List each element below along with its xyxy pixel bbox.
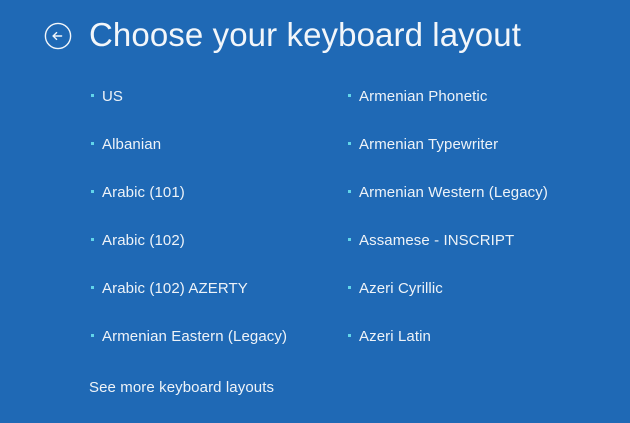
bullet-icon (91, 94, 94, 97)
list-item[interactable]: Assamese - INSCRIPT (348, 216, 630, 264)
keyboard-layout-screen: Choose your keyboard layout US Albanian … (0, 0, 630, 423)
header: Choose your keyboard layout (0, 0, 630, 72)
list-item-label: Arabic (101) (102, 184, 185, 201)
list-item-label: Azeri Cyrillic (359, 280, 443, 297)
list-item-label: Armenian Western (Legacy) (359, 184, 548, 201)
bullet-icon (91, 286, 94, 289)
back-arrow-circle-icon[interactable] (44, 22, 72, 50)
list-item[interactable]: Arabic (101) (91, 168, 341, 216)
see-more-keyboard-layouts-link[interactable]: See more keyboard layouts (89, 376, 274, 400)
bullet-icon (348, 238, 351, 241)
page-title: Choose your keyboard layout (89, 11, 521, 59)
bullet-icon (91, 334, 94, 337)
list-item-label: Armenian Typewriter (359, 136, 498, 153)
list-item[interactable]: US (91, 72, 341, 120)
bullet-icon (348, 286, 351, 289)
bullet-icon (348, 190, 351, 193)
list-item-label: Armenian Phonetic (359, 88, 487, 105)
bullet-icon (348, 142, 351, 145)
list-item[interactable]: Armenian Typewriter (348, 120, 630, 168)
layout-list-left: US Albanian Arabic (101) Arabic (102) Ar… (91, 72, 341, 360)
bullet-icon (91, 142, 94, 145)
layout-list-right: Armenian Phonetic Armenian Typewriter Ar… (348, 72, 630, 360)
list-item-label: Arabic (102) AZERTY (102, 280, 248, 297)
bullet-icon (91, 238, 94, 241)
layout-columns: US Albanian Arabic (101) Arabic (102) Ar… (0, 72, 630, 362)
list-item[interactable]: Armenian Eastern (Legacy) (91, 312, 341, 360)
list-item[interactable]: Azeri Cyrillic (348, 264, 630, 312)
list-item-label: US (102, 88, 123, 105)
list-item[interactable]: Armenian Western (Legacy) (348, 168, 630, 216)
list-item-label: Azeri Latin (359, 328, 431, 345)
list-item-label: Assamese - INSCRIPT (359, 232, 514, 249)
list-item[interactable]: Armenian Phonetic (348, 72, 630, 120)
list-item[interactable]: Arabic (102) AZERTY (91, 264, 341, 312)
bullet-icon (348, 334, 351, 337)
list-item-label: Arabic (102) (102, 232, 185, 249)
list-item-label: Albanian (102, 136, 161, 153)
list-item-label: Armenian Eastern (Legacy) (102, 328, 287, 345)
list-item[interactable]: Albanian (91, 120, 341, 168)
bullet-icon (348, 94, 351, 97)
list-item[interactable]: Azeri Latin (348, 312, 630, 360)
bullet-icon (91, 190, 94, 193)
list-item[interactable]: Arabic (102) (91, 216, 341, 264)
